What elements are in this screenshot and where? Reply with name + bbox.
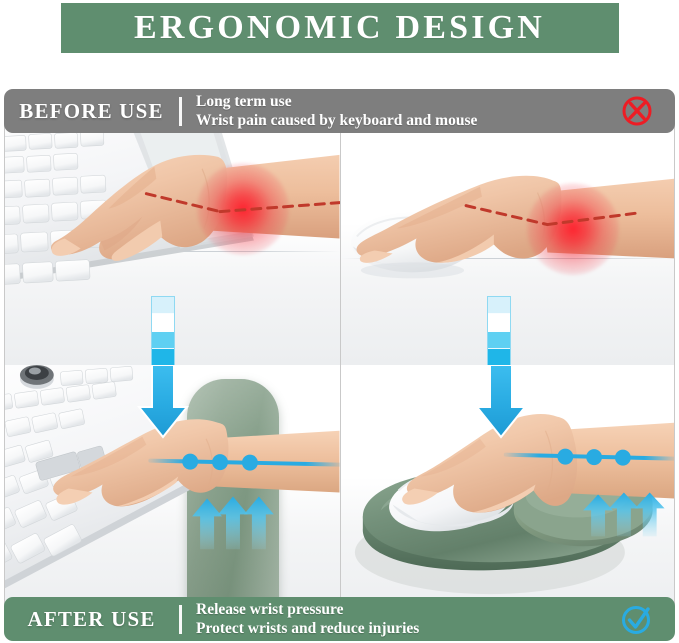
circle-check-icon [611, 602, 663, 636]
bar-divider [179, 97, 182, 126]
before-use-bar: BEFORE USE Long term use Wrist pain caus… [4, 89, 675, 133]
after-use-description: Release wrist pressure Protect wrists an… [196, 600, 611, 639]
panel-keyboard-after [4, 365, 340, 620]
transition-gradient-bar [151, 296, 175, 365]
comparison-panel-grid [4, 110, 675, 620]
after-use-line-2: Protect wrists and reduce injuries [196, 619, 611, 638]
bar-divider [179, 605, 182, 634]
panel-keyboard-before [4, 110, 340, 365]
downward-pressure-arrow [473, 365, 529, 441]
page-title: ERGONOMIC DESIGN [134, 11, 545, 45]
after-use-line-1: Release wrist pressure [196, 600, 611, 619]
after-use-tag: AFTER USE [4, 607, 179, 632]
before-use-description: Long term use Wrist pain caused by keybo… [196, 92, 611, 131]
title-banner-background: ERGONOMIC DESIGN [61, 3, 619, 53]
before-use-line-2: Wrist pain caused by keyboard and mouse [196, 111, 611, 130]
after-use-bar: AFTER USE Release wrist pressure Protect… [4, 597, 675, 641]
downward-pressure-arrow [135, 365, 191, 441]
before-use-tag: BEFORE USE [4, 99, 179, 124]
panel-mouse-after [340, 365, 676, 620]
transition-gradient-bar [487, 296, 511, 365]
before-use-line-1: Long term use [196, 92, 611, 111]
page-title-banner: ERGONOMIC DESIGN [0, 0, 679, 86]
panel-mouse-before [340, 110, 676, 365]
circle-x-icon [611, 94, 663, 128]
